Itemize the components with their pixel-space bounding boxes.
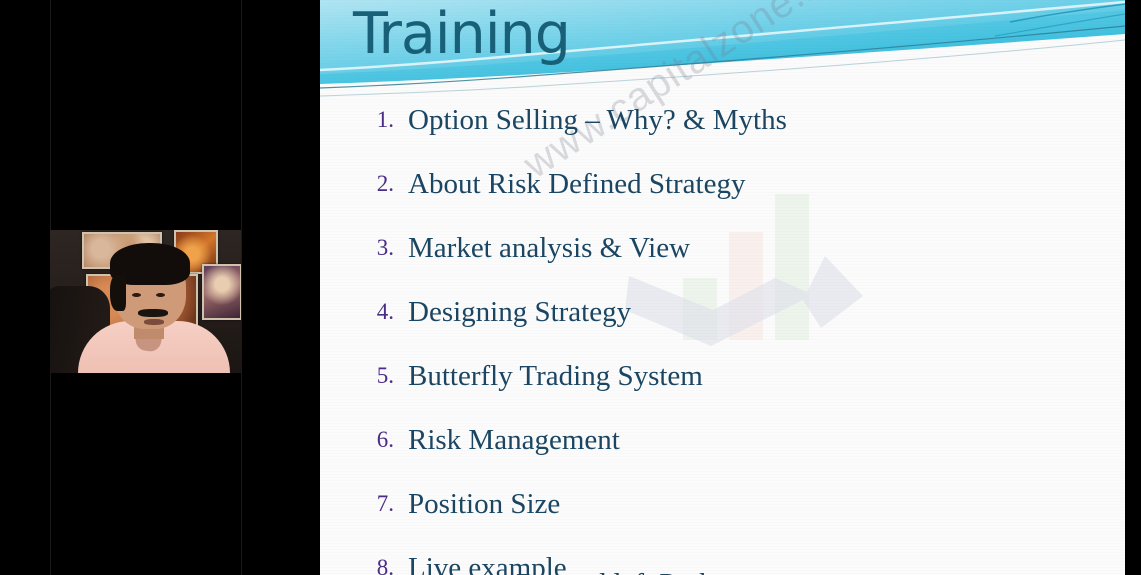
agenda-item-1: 1. Option Selling – Why? & Myths <box>320 88 1125 152</box>
agenda-item-number: 1. <box>360 107 394 133</box>
agenda-list: 1. Option Selling – Why? & Myths 2. Abou… <box>320 88 1125 575</box>
presenter-eye-right <box>156 293 165 297</box>
presenter-video-tile[interactable] <box>50 230 241 373</box>
panel-divider-right <box>241 0 242 575</box>
agenda-item-3: 3. Market analysis & View <box>320 216 1125 280</box>
agenda-item-number: 3. <box>360 235 394 261</box>
agenda-item-7: 7. Position Size <box>320 472 1125 536</box>
agenda-item-label: Position Size <box>408 488 560 521</box>
agenda-item-number: 7. <box>360 491 394 517</box>
agenda-item-number: 8. <box>360 555 394 575</box>
agenda-item-6: 6. Risk Management <box>320 408 1125 472</box>
agenda-item-5: 5. Butterfly Trading System <box>320 344 1125 408</box>
agenda-item-label: Butterfly Trading System <box>408 360 703 393</box>
presenter-moustache <box>138 309 168 317</box>
presenter-hair-side <box>110 275 126 311</box>
agenda-item-2: 2. About Risk Defined Strategy <box>320 152 1125 216</box>
agenda-item-number: 6. <box>360 427 394 453</box>
framed-artwork-icon <box>202 264 241 320</box>
agenda-item-number: 2. <box>360 171 394 197</box>
presentation-slide: www.capitalzone.in Training 1. Option Se… <box>320 0 1125 575</box>
agenda-item-label: Option Selling – Why? & Myths <box>408 104 787 137</box>
agenda-item-label: Market analysis & View <box>408 232 690 265</box>
agenda-item-label: Risk Management <box>408 424 620 457</box>
agenda-item-4: 4. Designing Strategy <box>320 280 1125 344</box>
agenda-item-label: About Risk Defined Strategy <box>408 168 745 201</box>
agenda-item-label: Designing Strategy <box>408 296 631 329</box>
screen-capture: www.capitalzone.in Training 1. Option Se… <box>0 0 1141 575</box>
presenter-eye-left <box>132 293 141 297</box>
presenter-mouth <box>144 319 164 325</box>
slide-title: Training <box>353 6 570 63</box>
agenda-item-number: 5. <box>360 363 394 389</box>
agenda-partial-next-line: Beyond left Probe <box>516 568 727 575</box>
agenda-item-number: 4. <box>360 299 394 325</box>
